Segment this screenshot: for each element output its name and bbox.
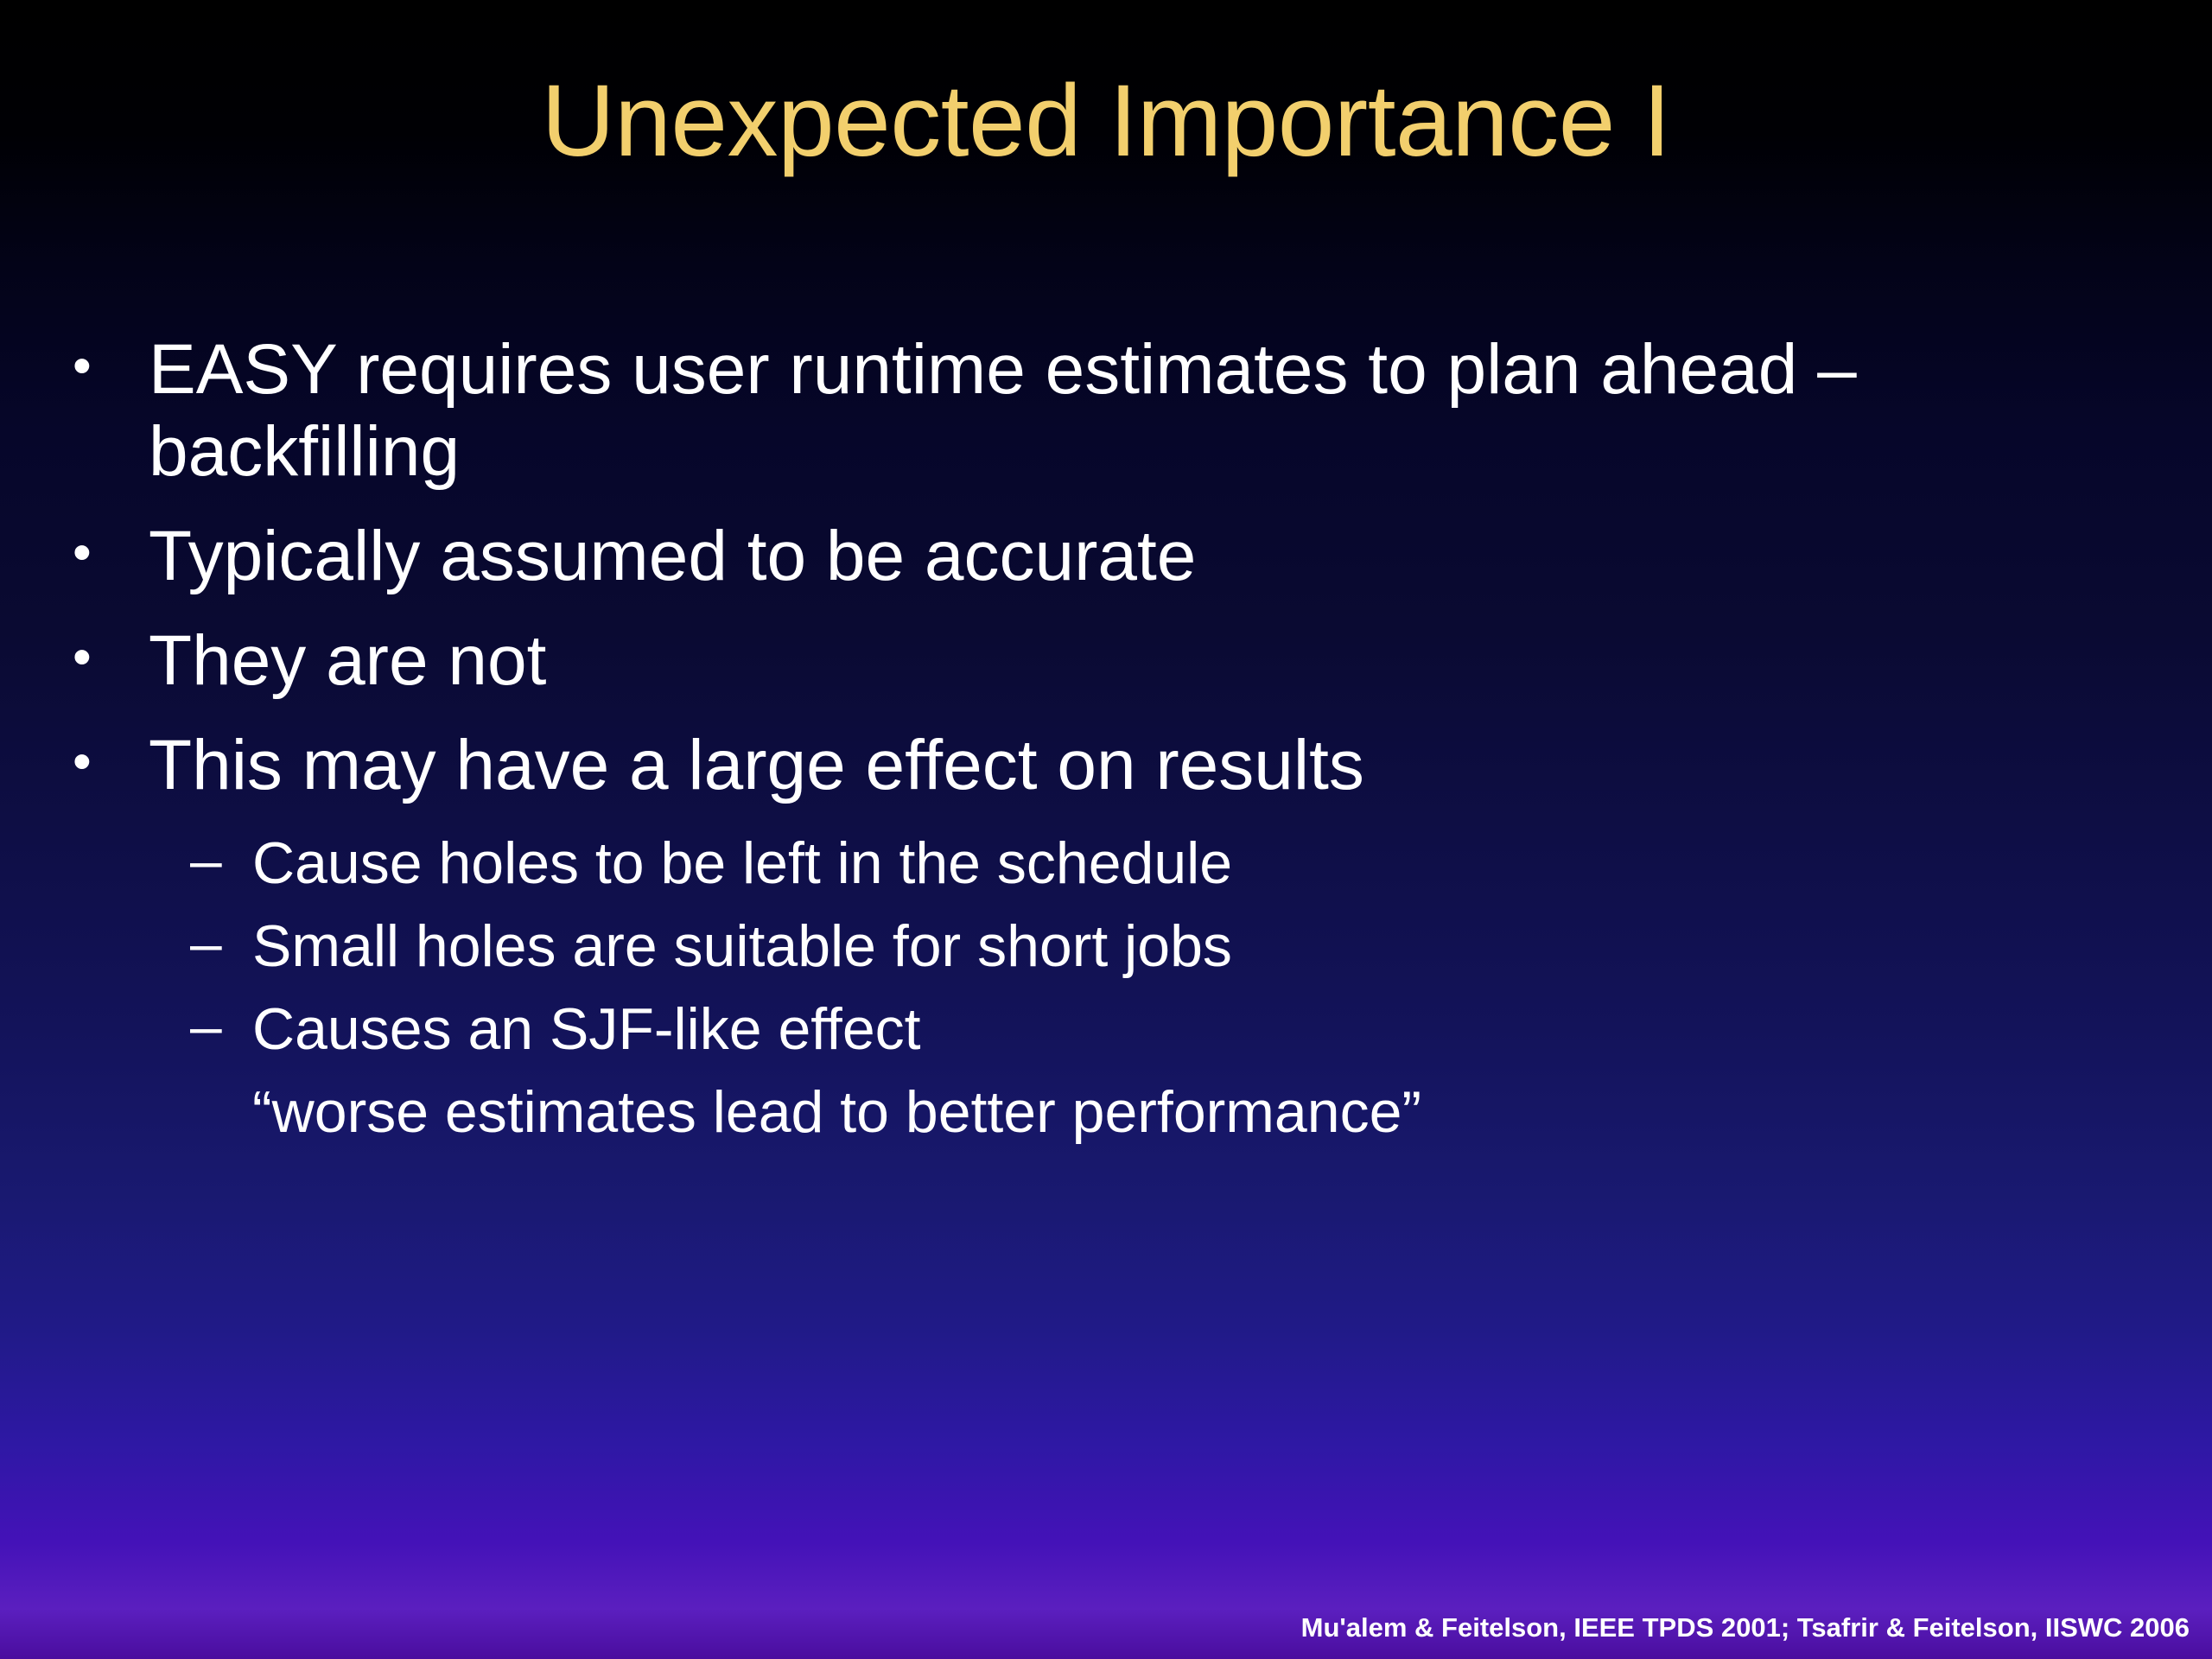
slide-title-area: Unexpected Importance I bbox=[0, 67, 2212, 175]
bullet-item-label: Typically assumed to be accurate bbox=[149, 515, 2093, 597]
slide-body-bullet-list: •EASY requires user runtime estimates to… bbox=[60, 328, 2160, 1161]
page-title: Unexpected Importance I bbox=[542, 67, 1671, 175]
bullet-item-label: This may have a large effect on results bbox=[149, 724, 2093, 806]
bullet-item-label: Cause holes to be left in the schedule bbox=[252, 829, 2160, 897]
bullet-dot-icon: • bbox=[73, 620, 149, 696]
bullet-item-level-2: “worse estimates lead to better performa… bbox=[60, 1078, 2160, 1146]
bullet-item-level-1: •This may have a large effect on results bbox=[60, 724, 2160, 806]
bullet-item-label: They are not bbox=[149, 620, 2093, 702]
bullet-item-label: Small holes are suitable for short jobs bbox=[252, 912, 2160, 980]
bullet-item-level-2: –Small holes are suitable for short jobs bbox=[60, 912, 2160, 980]
bullet-dot-icon: • bbox=[73, 515, 149, 591]
bullet-item-level-1: •They are not bbox=[60, 620, 2160, 702]
bullet-dash-icon: – bbox=[190, 995, 252, 1057]
bullet-dash-icon: – bbox=[190, 829, 252, 891]
bullet-dot-icon: • bbox=[73, 328, 149, 404]
bullet-item-level-1: •Typically assumed to be accurate bbox=[60, 515, 2160, 597]
bullet-dash-icon: – bbox=[190, 912, 252, 974]
bullet-item-label: Causes an SJF-like effect bbox=[252, 995, 2160, 1063]
bullet-item-level-2: –Cause holes to be left in the schedule bbox=[60, 829, 2160, 897]
bullet-item-level-1: •EASY requires user runtime estimates to… bbox=[60, 328, 2160, 493]
presentation-slide: Unexpected Importance I •EASY requires u… bbox=[0, 0, 2212, 1659]
bullet-item-label: EASY requires user runtime estimates to … bbox=[149, 328, 2093, 493]
citation-footer: Mu'alem & Feitelson, IEEE TPDS 2001; Tsa… bbox=[1301, 1611, 2190, 1643]
bullet-dot-icon: • bbox=[73, 724, 149, 800]
bullet-item-label: “worse estimates lead to better performa… bbox=[252, 1078, 2160, 1146]
bullet-item-level-2: –Causes an SJF-like effect bbox=[60, 995, 2160, 1063]
